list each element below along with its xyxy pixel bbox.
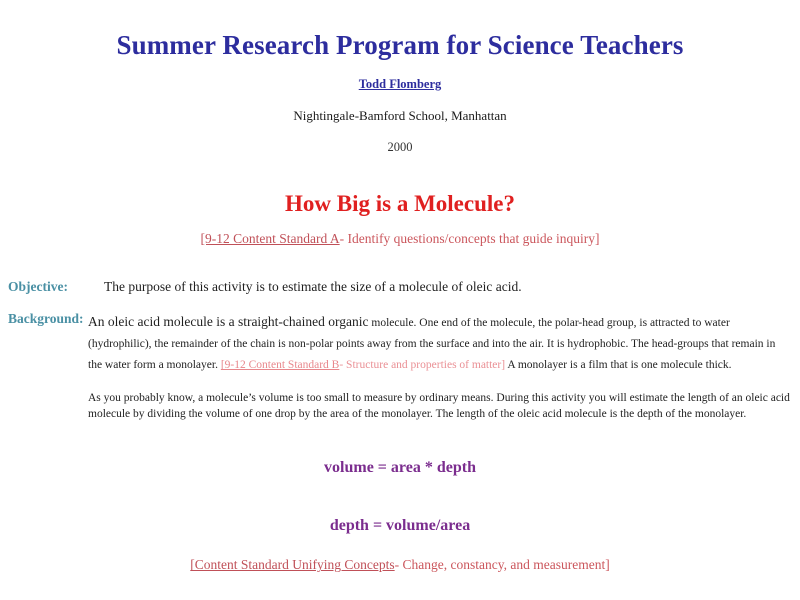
- background-section: Background: An oleic acid molecule is a …: [8, 297, 792, 423]
- background-label: Background:: [8, 311, 88, 327]
- unifying-concepts-link[interactable]: [Content Standard Unifying Concepts: [190, 557, 394, 572]
- year: 2000: [8, 140, 792, 155]
- unifying-concepts-line: [Content Standard Unifying Concepts- Cha…: [8, 535, 792, 573]
- school-affiliation: Nightingale-Bamford School, Manhattan: [8, 108, 792, 124]
- content-standard-a-line: [9-12 Content Standard A- Identify quest…: [8, 231, 792, 247]
- activity-title: How Big is a Molecule?: [8, 155, 792, 218]
- background-paragraph-2: As you probably know, a molecule’s volum…: [8, 374, 792, 422]
- objective-text: The purpose of this activity is to estim…: [104, 279, 522, 295]
- background-body: An oleic acid molecule is a straight-cha…: [88, 311, 792, 375]
- formula-depth: depth = volume/area: [8, 477, 792, 535]
- background-paragraph-1: An oleic acid molecule is a straight-cha…: [88, 311, 792, 375]
- objective-section: Objective:The purpose of this activity i…: [8, 247, 792, 297]
- objective-label: Objective:: [8, 279, 104, 295]
- content-standard-a-link[interactable]: [9-12 Content Standard A: [201, 231, 340, 246]
- document-page: Summer Research Program for Science Teac…: [0, 0, 800, 600]
- background-text-b: A monolayer is a film that is one molecu…: [505, 359, 731, 371]
- unifying-concepts-description: - Change, constancy, and measurement]: [395, 557, 610, 572]
- site-title: Summer Research Program for Science Teac…: [8, 0, 792, 61]
- author-link[interactable]: Todd Flomberg: [359, 77, 442, 91]
- content-standard-b-description: - Structure and properties of matter]: [339, 359, 505, 371]
- content-standard-b-link[interactable]: [9-12 Content Standard B: [221, 359, 340, 371]
- content-standard-a-description: - Identify questions/concepts that guide…: [340, 231, 600, 246]
- formula-volume: volume = area * depth: [8, 422, 792, 477]
- author-line: Todd Flomberg: [8, 77, 792, 92]
- background-lead-sentence: An oleic acid molecule is a straight-cha…: [88, 314, 369, 329]
